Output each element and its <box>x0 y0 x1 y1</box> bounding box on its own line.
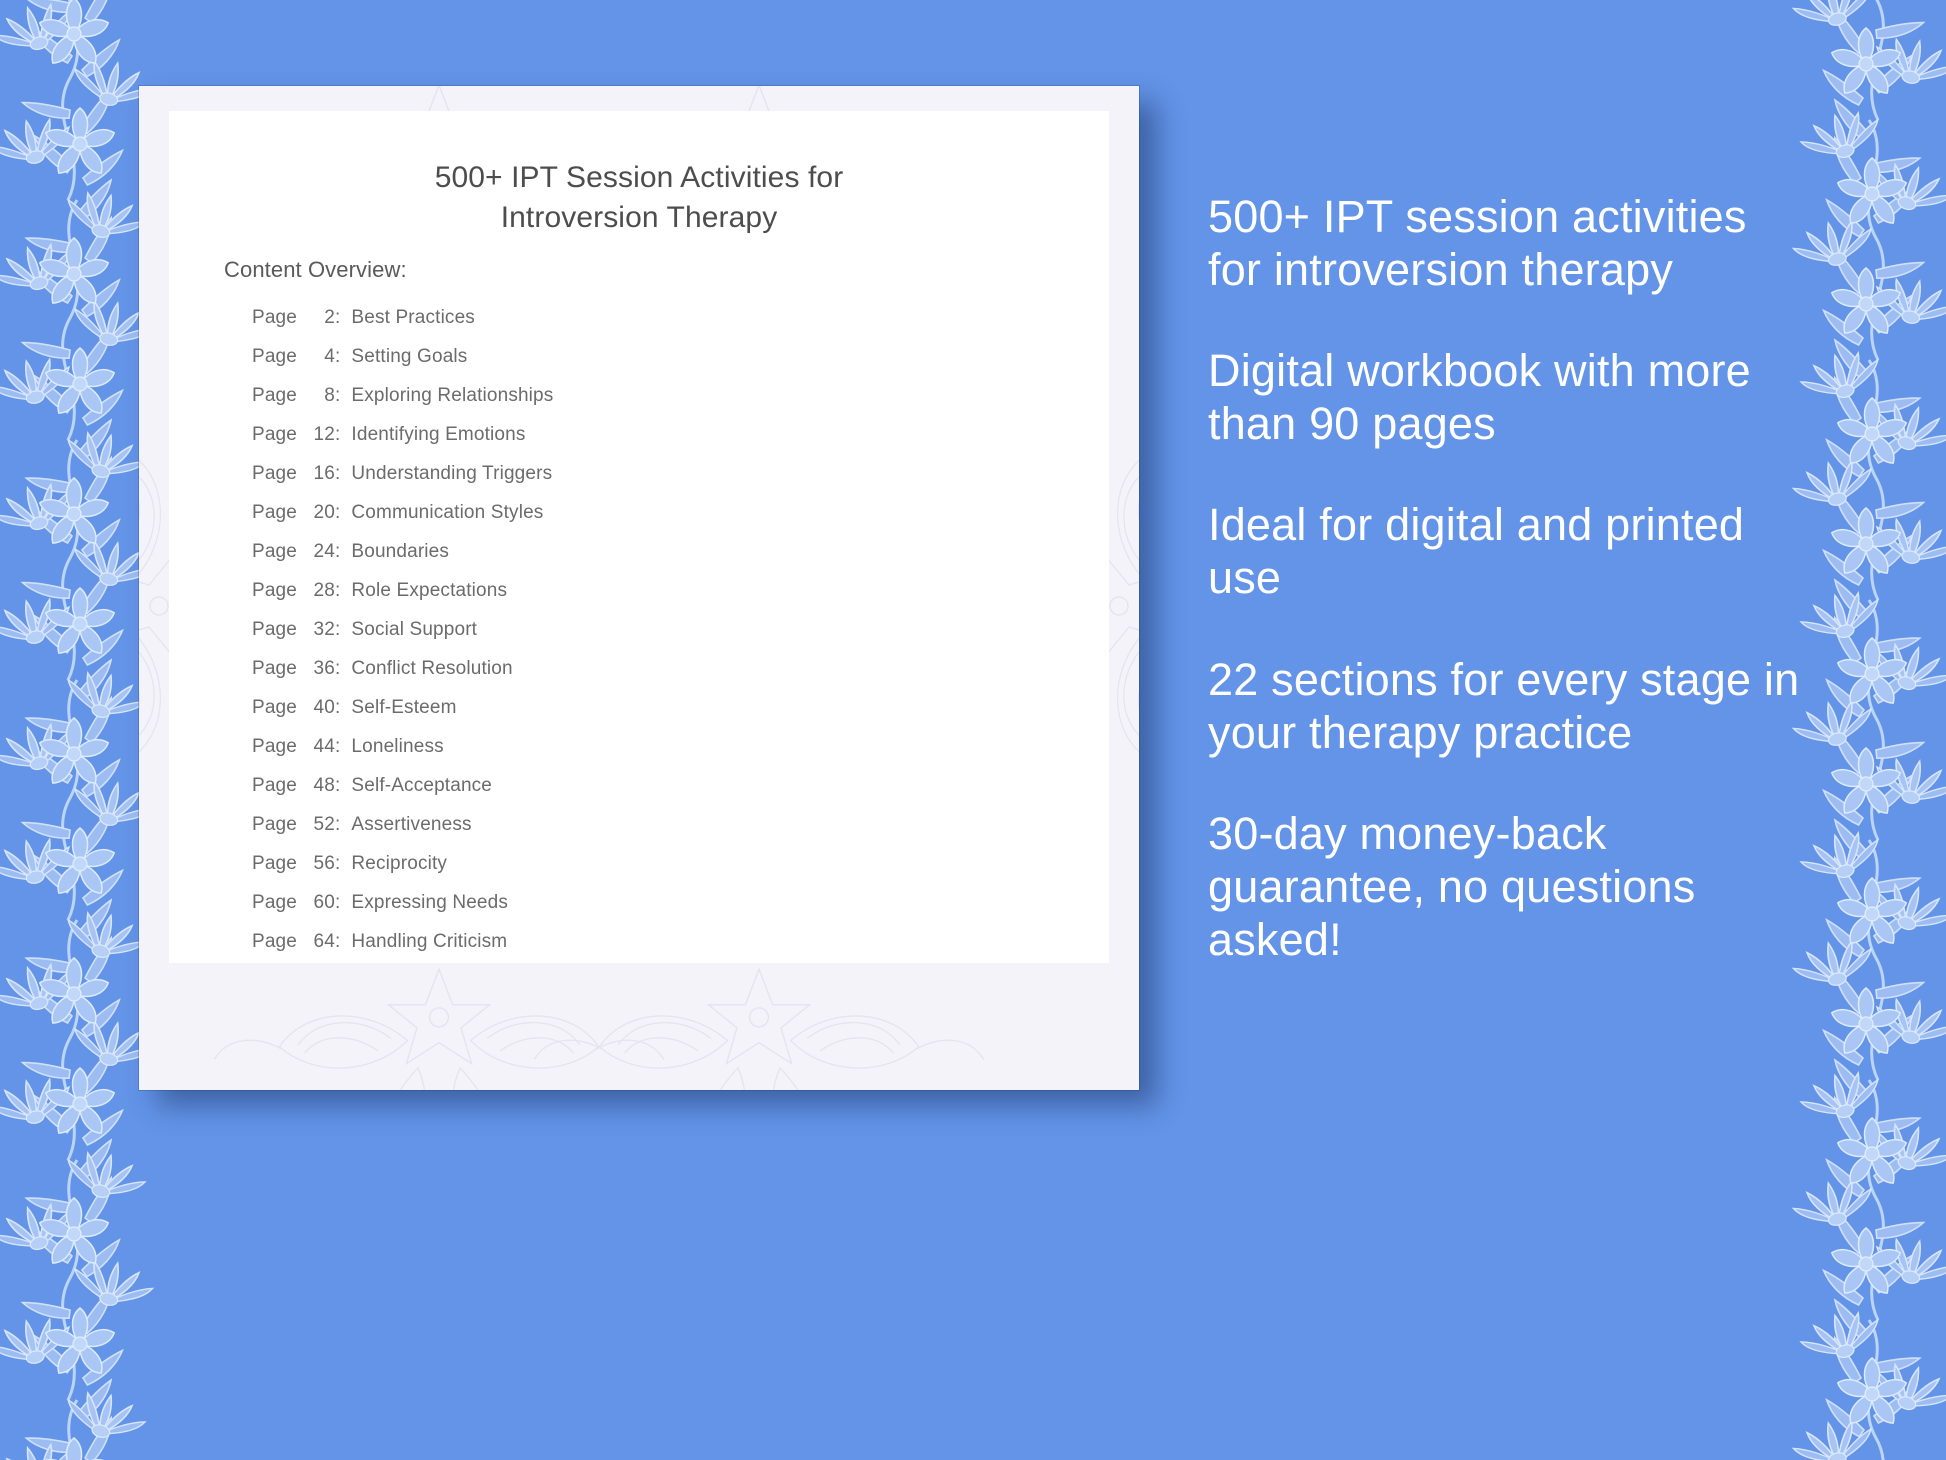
toc-colon: : <box>335 931 351 953</box>
toc-page-word: Page <box>252 424 297 446</box>
toc-page-word: Page <box>252 814 297 836</box>
toc-page-number: 44 <box>297 736 335 758</box>
toc-colon: : <box>335 658 351 680</box>
toc-colon: : <box>335 346 351 368</box>
toc-colon: : <box>335 736 351 758</box>
toc-page-number: 28 <box>297 580 335 602</box>
toc-row: Page4:Setting Goals <box>252 346 1072 385</box>
benefit-item: 22 sections for every stage in your ther… <box>1208 653 1808 759</box>
toc-row: Page24:Boundaries <box>252 541 1072 580</box>
toc-section-title: Understanding Triggers <box>351 463 552 485</box>
toc-row: Page2:Best Practices <box>252 307 1072 346</box>
benefit-item: 500+ IPT session activities for introver… <box>1208 190 1808 296</box>
toc-section-title: Handling Criticism <box>351 931 507 953</box>
workbook-preview-card: 500+ IPT Session Activities for Introver… <box>139 86 1139 1090</box>
toc-colon: : <box>335 463 351 485</box>
toc-section-title: Expressing Needs <box>351 892 508 914</box>
toc-section-title: Best Practices <box>351 307 475 329</box>
toc-page-number: 8 <box>297 385 335 407</box>
toc-colon: : <box>335 307 351 329</box>
toc-row: Page8:Exploring Relationships <box>252 385 1072 424</box>
toc-page-number: 12 <box>297 424 335 446</box>
toc-page-word: Page <box>252 853 297 875</box>
page-title: 500+ IPT Session Activities for Introver… <box>169 158 1109 238</box>
toc-page-word: Page <box>252 385 297 407</box>
toc-page-number: 56 <box>297 853 335 875</box>
toc-page-word: Page <box>252 307 297 329</box>
toc-section-title: Setting Goals <box>351 346 467 368</box>
toc-page-number: 64 <box>297 931 335 953</box>
benefit-item: Digital workbook with more than 90 pages <box>1208 344 1808 450</box>
toc-page-number: 4 <box>297 346 335 368</box>
toc-page-number: 48 <box>297 775 335 797</box>
toc-row: Page52:Assertiveness <box>252 814 1072 853</box>
toc-page-word: Page <box>252 697 297 719</box>
toc-page-number: 20 <box>297 502 335 524</box>
toc-colon: : <box>335 619 351 641</box>
toc-page-word: Page <box>252 541 297 563</box>
benefit-item: Ideal for digital and printed use <box>1208 498 1808 604</box>
toc-row: Page28:Role Expectations <box>252 580 1072 619</box>
toc-section-title: Conflict Resolution <box>351 658 512 680</box>
toc-colon: : <box>335 502 351 524</box>
toc-row: Page36:Conflict Resolution <box>252 658 1072 697</box>
content-overview-label: Content Overview: <box>224 257 407 283</box>
toc-page-word: Page <box>252 580 297 602</box>
toc-section-title: Exploring Relationships <box>351 385 553 407</box>
toc-section-title: Self-Acceptance <box>351 775 492 797</box>
toc-page-number: 36 <box>297 658 335 680</box>
toc-page-word: Page <box>252 463 297 485</box>
toc-row: Page48:Self-Acceptance <box>252 775 1072 814</box>
toc-section-title: Boundaries <box>351 541 449 563</box>
toc-colon: : <box>335 385 351 407</box>
toc-row: Page40:Self-Esteem <box>252 697 1072 736</box>
toc-section-title: Reciprocity <box>351 853 447 875</box>
toc-section-title: Communication Styles <box>351 502 543 524</box>
toc-colon: : <box>335 814 351 836</box>
toc-page-number: 16 <box>297 463 335 485</box>
toc-page-word: Page <box>252 775 297 797</box>
toc-page-number: 40 <box>297 697 335 719</box>
toc-row: Page56:Reciprocity <box>252 853 1072 892</box>
toc-colon: : <box>335 580 351 602</box>
toc-colon: : <box>335 541 351 563</box>
table-of-contents: Page2:Best PracticesPage4:Setting GoalsP… <box>252 307 1072 963</box>
toc-colon: : <box>335 853 351 875</box>
toc-colon: : <box>335 775 351 797</box>
benefit-item: 30-day money-back guarantee, no question… <box>1208 807 1808 966</box>
toc-row: Page64:Handling Criticism <box>252 931 1072 963</box>
toc-colon: : <box>335 892 351 914</box>
toc-row: Page12:Identifying Emotions <box>252 424 1072 463</box>
toc-page-number: 2 <box>297 307 335 329</box>
toc-section-title: Identifying Emotions <box>351 424 525 446</box>
toc-section-title: Role Expectations <box>351 580 507 602</box>
toc-page-word: Page <box>252 892 297 914</box>
toc-page-number: 60 <box>297 892 335 914</box>
toc-section-title: Social Support <box>351 619 477 641</box>
toc-page-word: Page <box>252 658 297 680</box>
toc-page-number: 24 <box>297 541 335 563</box>
toc-section-title: Loneliness <box>351 736 443 758</box>
toc-page-word: Page <box>252 346 297 368</box>
toc-row: Page16:Understanding Triggers <box>252 463 1072 502</box>
toc-colon: : <box>335 697 351 719</box>
toc-section-title: Self-Esteem <box>351 697 456 719</box>
toc-colon: : <box>335 424 351 446</box>
toc-page-number: 52 <box>297 814 335 836</box>
toc-section-title: Assertiveness <box>351 814 471 836</box>
toc-page-word: Page <box>252 736 297 758</box>
toc-page-word: Page <box>252 619 297 641</box>
toc-row: Page60:Expressing Needs <box>252 892 1072 931</box>
toc-row: Page44:Loneliness <box>252 736 1072 775</box>
toc-page-word: Page <box>252 502 297 524</box>
toc-page-word: Page <box>252 931 297 953</box>
workbook-page-sheet: 500+ IPT Session Activities for Introver… <box>169 111 1109 963</box>
toc-row: Page20:Communication Styles <box>252 502 1072 541</box>
toc-row: Page32:Social Support <box>252 619 1072 658</box>
toc-page-number: 32 <box>297 619 335 641</box>
benefits-list: 500+ IPT session activities for introver… <box>1208 190 1808 966</box>
slide-canvas: 500+ IPT Session Activities for Introver… <box>0 0 1946 1460</box>
